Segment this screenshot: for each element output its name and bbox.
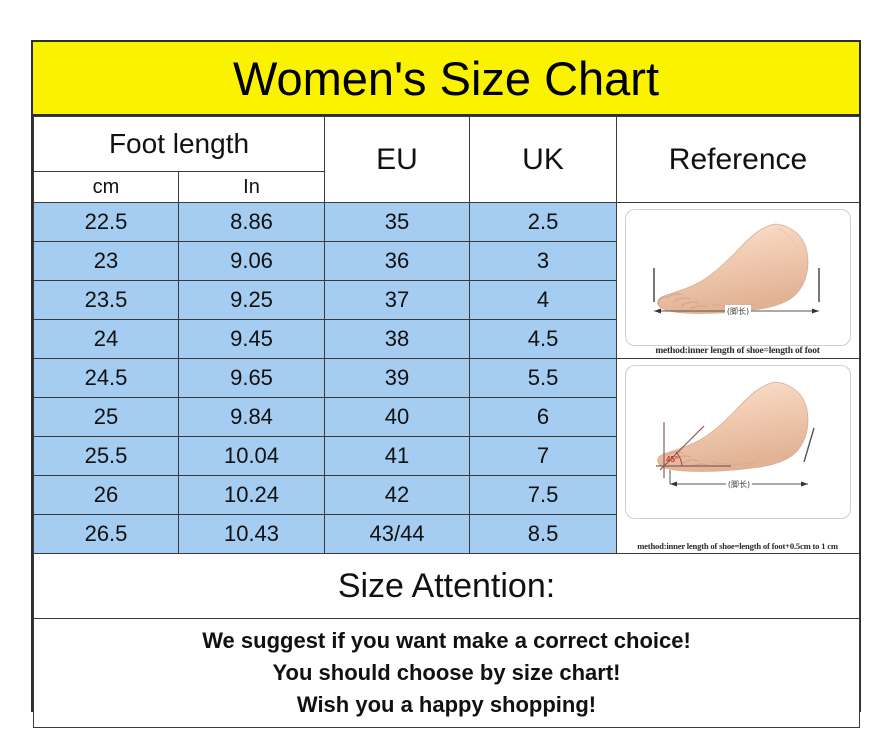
cell-uk: 7 xyxy=(470,437,617,476)
cell-cm: 26.5 xyxy=(34,515,179,554)
cell-eu: 38 xyxy=(325,320,470,359)
size-attention-notes-row: We suggest if you want make a correct ch… xyxy=(34,619,860,728)
size-attention-row: Size Attention: xyxy=(34,554,860,619)
angle-label: 45° xyxy=(666,455,678,464)
header-eu: EU xyxy=(325,117,470,203)
cell-cm: 25 xyxy=(34,398,179,437)
cell-in: 10.43 xyxy=(179,515,325,554)
reference-caption-second: method:inner length of shoe=length of fo… xyxy=(617,541,858,551)
header-uk: UK xyxy=(470,117,617,203)
cell-cm: 23.5 xyxy=(34,281,179,320)
header-in: In xyxy=(179,172,325,203)
header-reference: Reference xyxy=(617,117,860,203)
cell-in: 9.25 xyxy=(179,281,325,320)
cell-in: 9.65 xyxy=(179,359,325,398)
note-line-2: You should choose by size chart! xyxy=(34,657,859,689)
cell-cm: 22.5 xyxy=(34,203,179,242)
cell-in: 9.45 xyxy=(179,320,325,359)
size-attention-notes: We suggest if you want make a correct ch… xyxy=(34,619,860,728)
cell-uk: 2.5 xyxy=(470,203,617,242)
measure-label-second: (脚长) xyxy=(728,479,750,489)
cell-in: 10.04 xyxy=(179,437,325,476)
cell-uk: 7.5 xyxy=(470,476,617,515)
cell-cm: 26 xyxy=(34,476,179,515)
foot-side-view-angle-icon: 45° (脚长) xyxy=(626,366,850,518)
cell-uk: 5.5 xyxy=(470,359,617,398)
header-foot-length: Foot length xyxy=(34,117,325,172)
size-attention-heading: Size Attention: xyxy=(34,554,860,619)
note-line-1: We suggest if you want make a correct ch… xyxy=(34,625,859,657)
cell-in: 9.06 xyxy=(179,242,325,281)
cell-eu: 41 xyxy=(325,437,470,476)
reference-cell-first: (脚长) method:inner length of shoe=length … xyxy=(617,203,860,359)
cell-cm: 23 xyxy=(34,242,179,281)
cell-uk: 4 xyxy=(470,281,617,320)
cell-cm: 24.5 xyxy=(34,359,179,398)
cell-eu: 36 xyxy=(325,242,470,281)
table-row: 24.5 9.65 39 5.5 xyxy=(34,359,860,398)
reference-illustration-first: (脚长) method:inner length of shoe=length … xyxy=(617,203,858,358)
cell-eu: 40 xyxy=(325,398,470,437)
measure-label-first: (脚长) xyxy=(727,306,749,316)
table-row: 22.5 8.86 35 2.5 xyxy=(34,203,860,242)
page-title: Women's Size Chart xyxy=(233,51,659,106)
cell-uk: 3 xyxy=(470,242,617,281)
header-cm: cm xyxy=(34,172,179,203)
cell-eu: 37 xyxy=(325,281,470,320)
cell-cm: 24 xyxy=(34,320,179,359)
cell-eu: 42 xyxy=(325,476,470,515)
cell-in: 8.86 xyxy=(179,203,325,242)
foot-side-view-icon: (脚长) xyxy=(626,210,850,345)
size-chart-table: Foot length EU UK Reference cm In 22.5 8… xyxy=(33,116,860,728)
cell-in: 9.84 xyxy=(179,398,325,437)
reference-frame: 45° (脚长) xyxy=(625,365,851,519)
chart-title-bar: Women's Size Chart xyxy=(33,42,859,116)
cell-in: 10.24 xyxy=(179,476,325,515)
size-chart-container: Women's Size Chart Foot length EU UK Ref… xyxy=(31,40,861,712)
reference-caption-first: method:inner length of shoe=length of fo… xyxy=(617,346,858,356)
cell-uk: 4.5 xyxy=(470,320,617,359)
reference-frame: (脚长) xyxy=(625,209,851,346)
reference-illustration-second: 45° (脚长) method:inner length of shoe=len… xyxy=(617,359,858,553)
cell-eu: 43/44 xyxy=(325,515,470,554)
table-header-row-top: Foot length EU UK Reference xyxy=(34,117,860,172)
note-line-3: Wish you a happy shopping! xyxy=(34,689,859,721)
cell-eu: 35 xyxy=(325,203,470,242)
cell-uk: 8.5 xyxy=(470,515,617,554)
cell-uk: 6 xyxy=(470,398,617,437)
reference-cell-second: 45° (脚长) method:inner length of shoe=len… xyxy=(617,359,860,554)
cell-eu: 39 xyxy=(325,359,470,398)
cell-cm: 25.5 xyxy=(34,437,179,476)
